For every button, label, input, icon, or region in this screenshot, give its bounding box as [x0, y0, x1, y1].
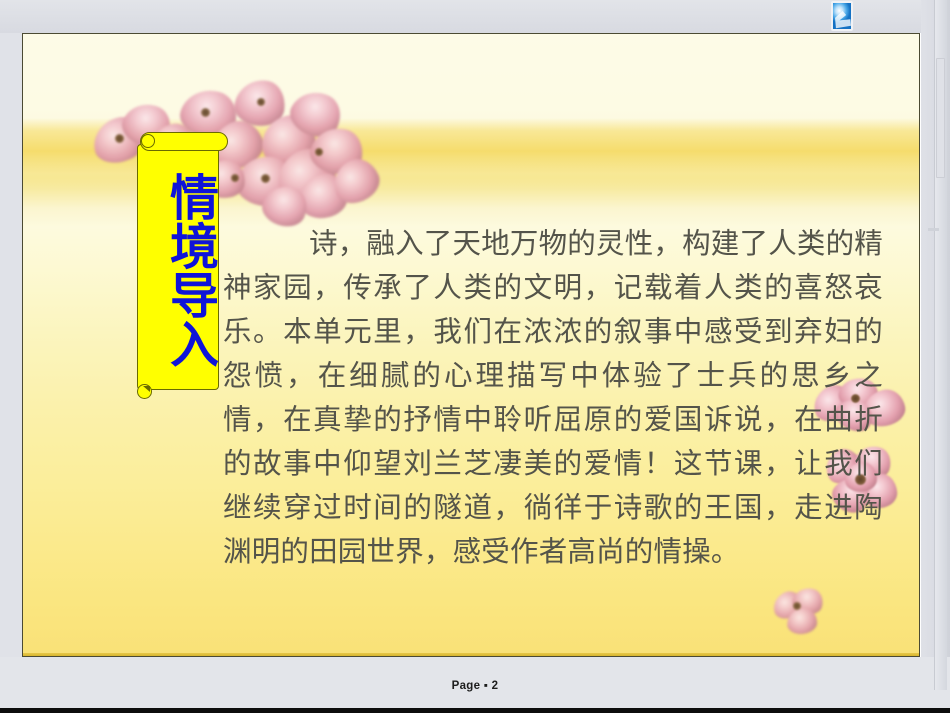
scroll-curl-bottom-icon — [137, 384, 152, 399]
vertical-scrollbar-thumb[interactable] — [936, 58, 945, 178]
window-left-band — [0, 33, 22, 658]
slide-canvas: 情境导入 诗，融入了天地万物的灵性，构建了人类的精神家园，传承了人类的文明，记载… — [22, 33, 920, 657]
window-bottom-rule — [0, 708, 950, 713]
scrollbar-notch — [928, 228, 939, 231]
window-top-band — [0, 0, 950, 33]
page-number-footer: Page ▪ 2 — [0, 680, 950, 692]
scroll-banner-title: 情境导入 — [137, 154, 219, 386]
slide-bottom-rule — [23, 653, 919, 656]
application-chrome: 情境导入 诗，融入了天地万物的灵性，构建了人类的精神家园，传承了人类的文明，记载… — [0, 0, 950, 713]
app-icon-glyph — [835, 11, 851, 29]
scroll-banner[interactable]: 情境导入 — [137, 132, 219, 400]
cherry-blossom-icon — [771, 586, 827, 638]
scroll-curl-top-icon — [141, 134, 155, 148]
slide-body-paragraph: 诗，融入了天地万物的灵性，构建了人类的精神家园，传承了人类的文明，记载着人类的喜… — [223, 222, 883, 574]
presentation-app-icon[interactable] — [831, 1, 853, 31]
